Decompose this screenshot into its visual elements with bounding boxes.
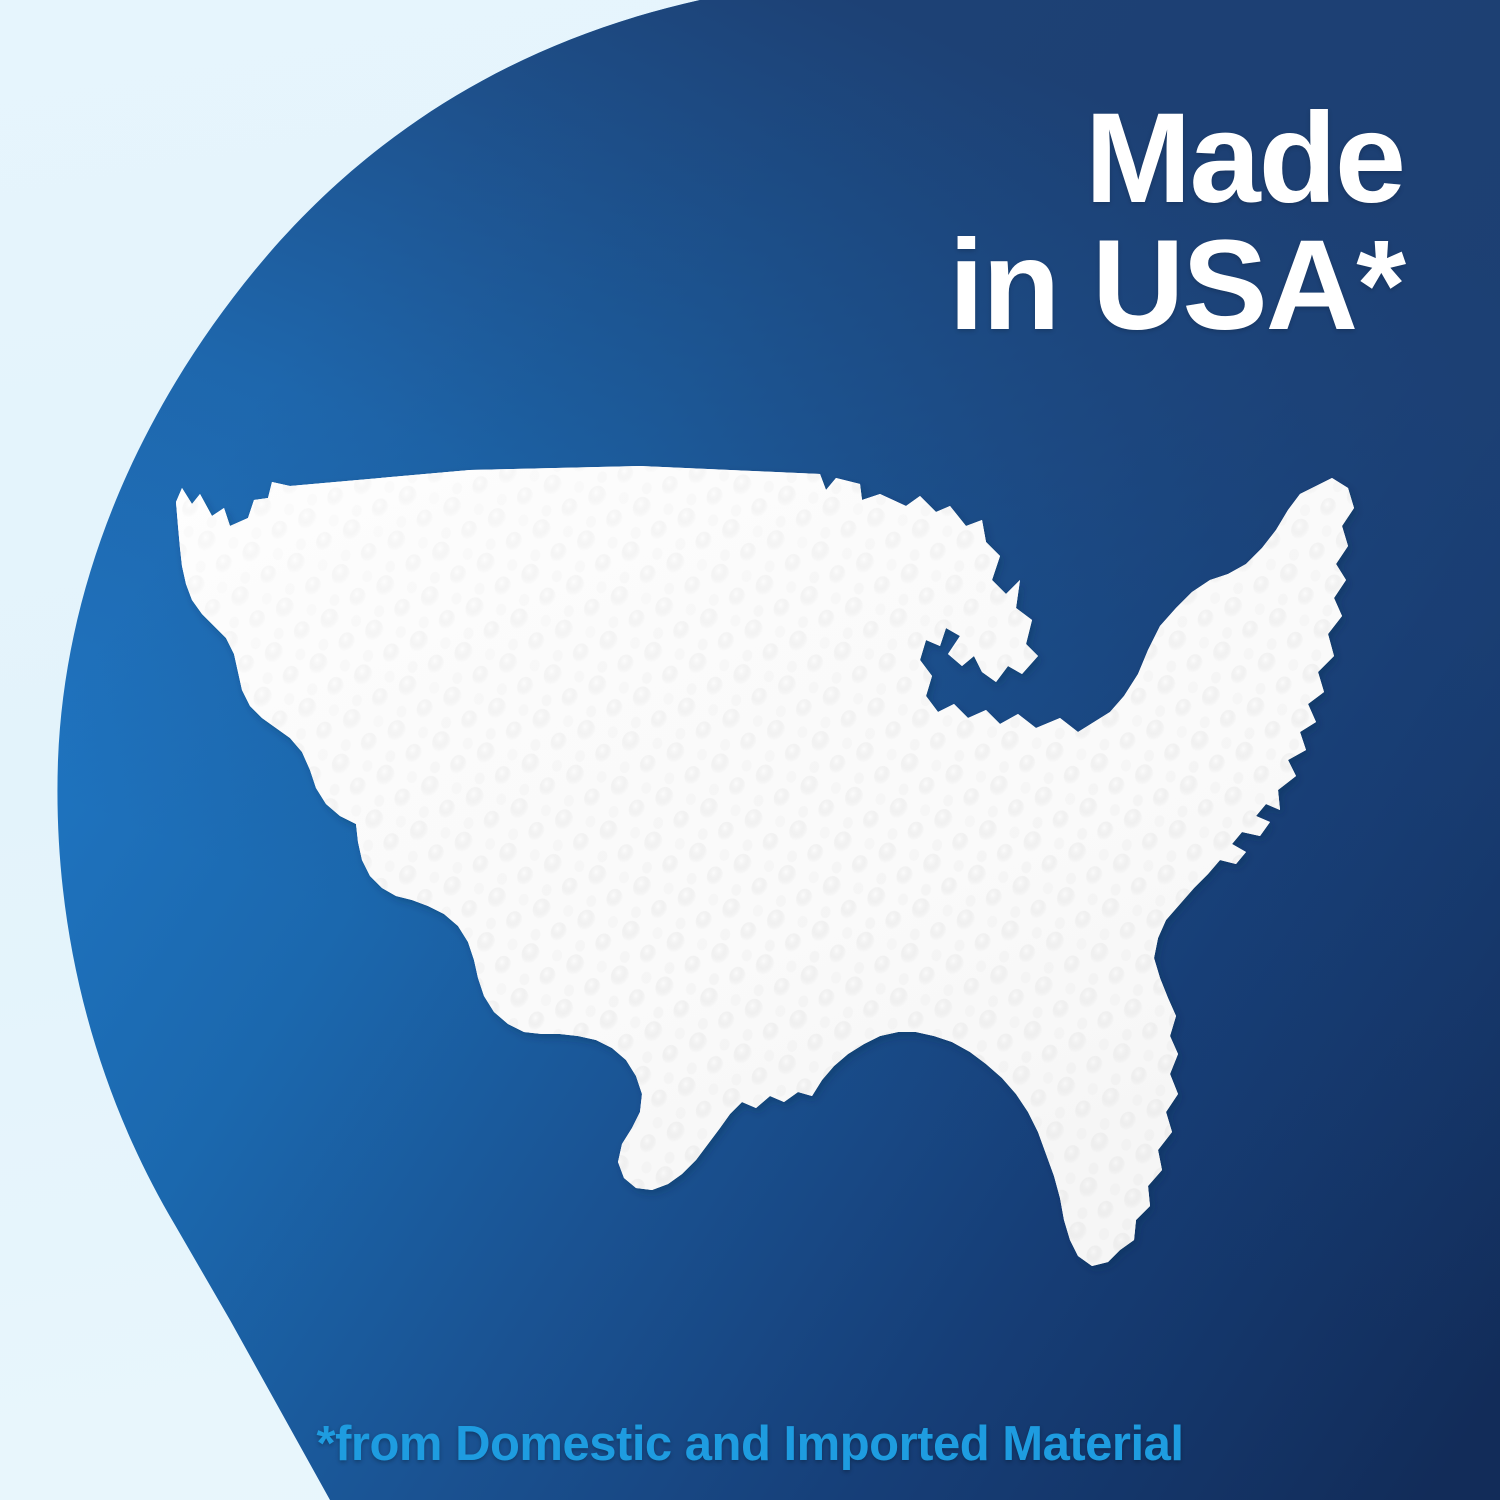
usa-map — [120, 460, 1420, 1330]
headline-line-1: Made — [764, 96, 1404, 223]
headline: Made in USA* — [764, 96, 1404, 349]
footnote-caption: *from Domestic and Imported Material — [0, 1416, 1500, 1472]
map-shading — [176, 466, 1354, 1266]
made-in-usa-graphic: Made in USA* *from Domestic and Imported… — [0, 0, 1500, 1500]
headline-line-2: in USA* — [764, 223, 1404, 350]
